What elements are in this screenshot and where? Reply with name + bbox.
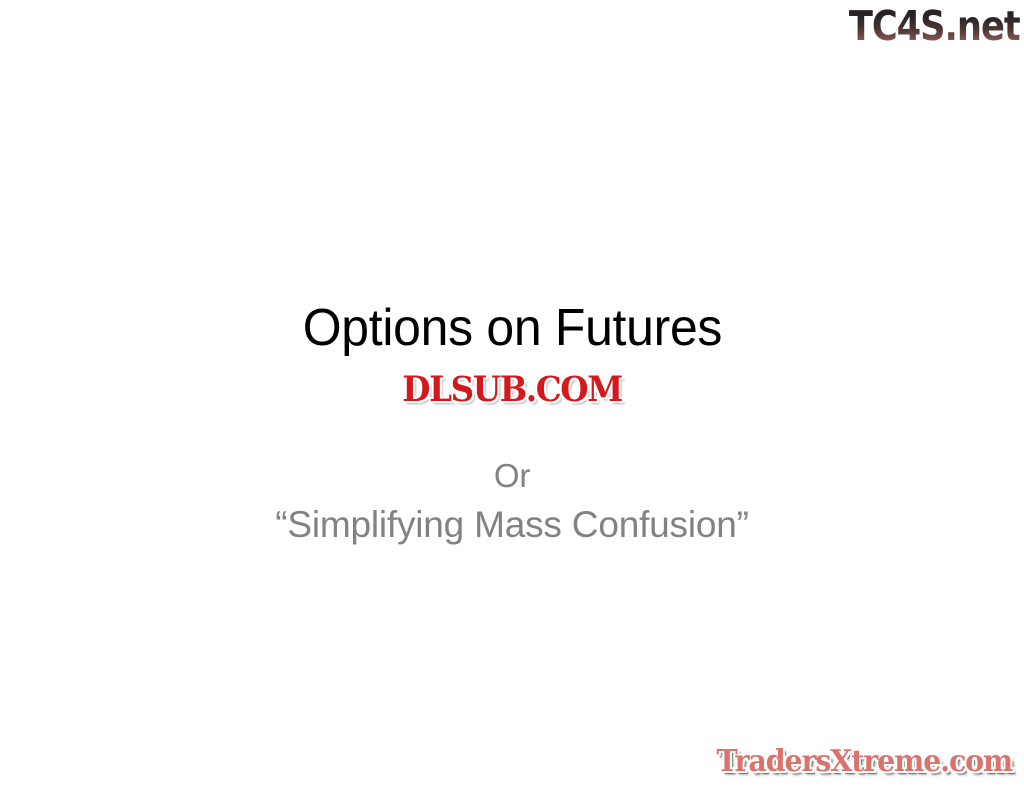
slide-subtitle-block: Or “Simplifying Mass Confusion” — [0, 452, 1024, 550]
dlsub-watermark: DLSUB.COM — [0, 370, 1024, 410]
tradersxtreme-logo-text: TradersXtreme.com — [716, 745, 1012, 779]
subtitle-line-quote: “Simplifying Mass Confusion” — [0, 500, 1024, 550]
slide-title-block: Options on Futures — [0, 296, 1024, 360]
subtitle-line-or: Or — [0, 452, 1024, 500]
tc4s-logo-text: TC4S.net — [849, 4, 1020, 48]
dlsub-watermark-text: DLSUB.COM — [402, 370, 622, 410]
presentation-slide: TC4S.net Options on Futures DLSUB.COM Or… — [0, 0, 1024, 791]
tradersxtreme-logo[interactable]: TradersXtreme.com — [701, 743, 1012, 781]
page-title: Options on Futures — [302, 296, 721, 360]
tc4s-site-logo[interactable]: TC4S.net — [824, 2, 1020, 50]
